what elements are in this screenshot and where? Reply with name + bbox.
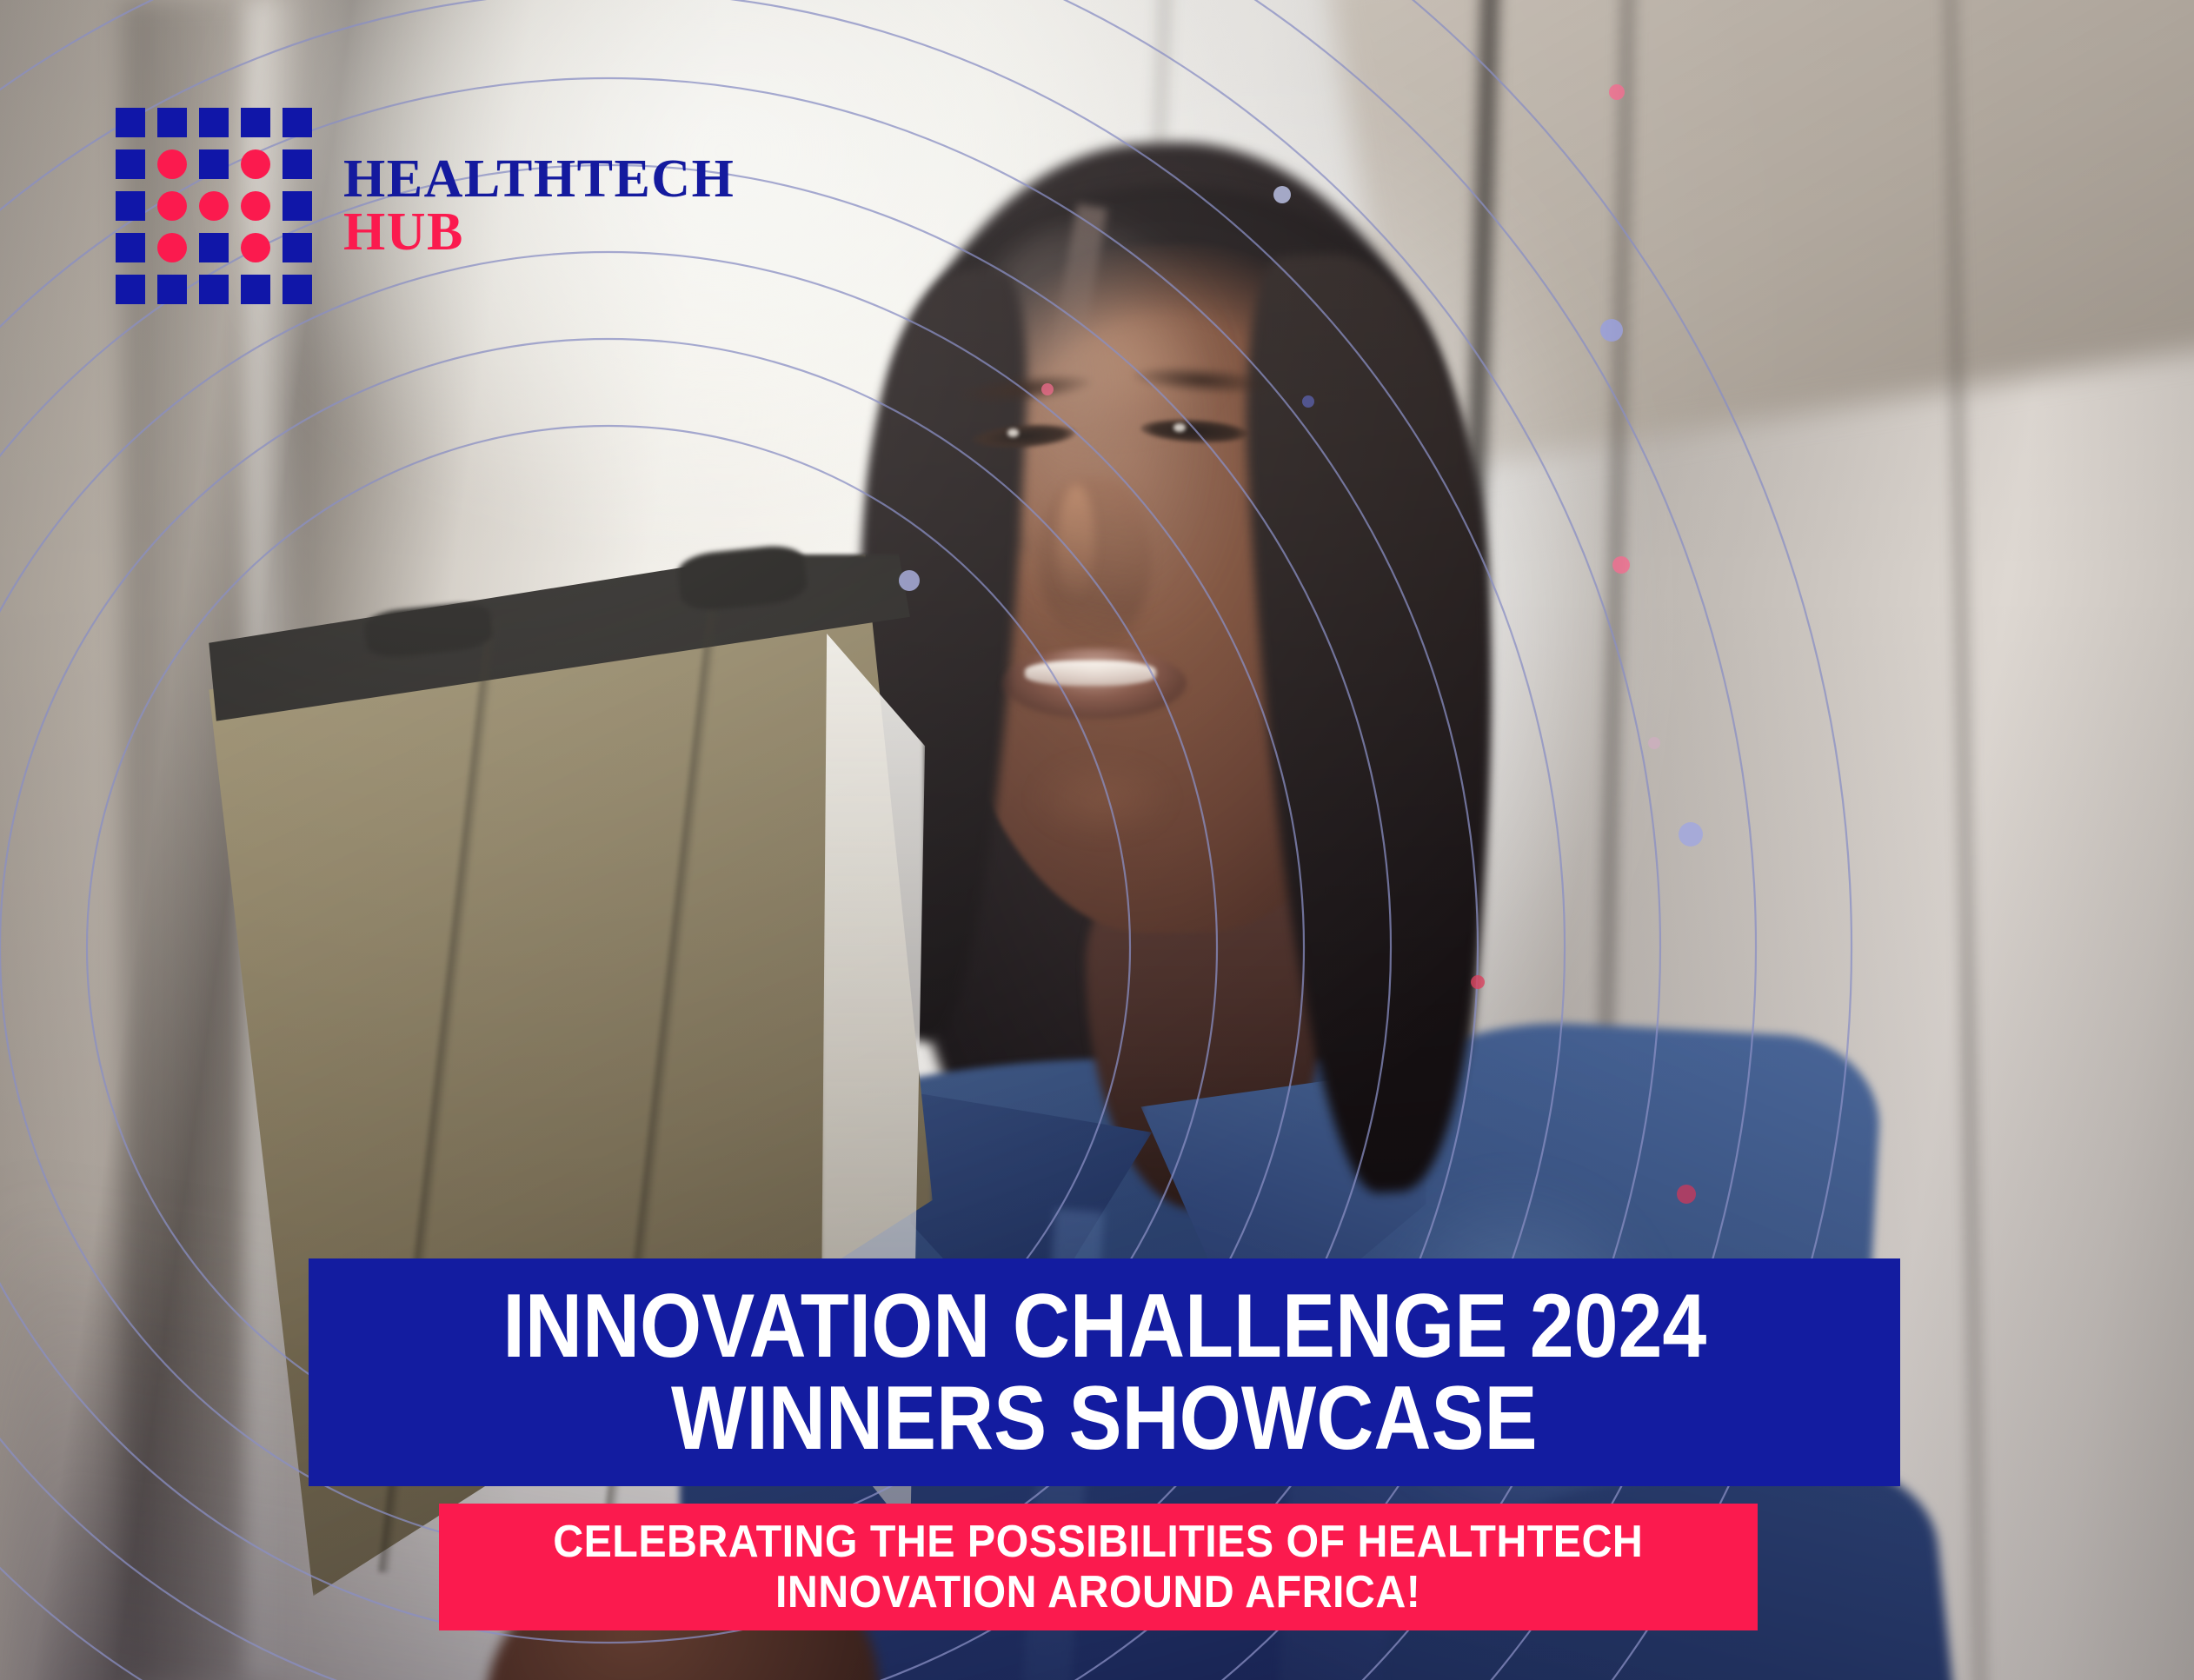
logo-cell-r1c2: [157, 108, 187, 137]
logo-cell-r3c1: [116, 191, 145, 221]
logo-cell-r1c4: [241, 108, 270, 137]
healthtech-hub-grid-mark-icon: [116, 108, 312, 304]
logo-cell-r4c4: [241, 233, 270, 262]
headline-line-1: INNOVATION CHALLENGE 2024: [502, 1280, 1706, 1372]
logo-cell-r3c4: [241, 191, 270, 221]
logo-cell-r1c1: [116, 108, 145, 137]
poster-canvas: HEALTHTECH HUB INNOVATION CHALLENGE 2024…: [0, 0, 2194, 1680]
brand-wordmark: HEALTHTECH HUB: [343, 155, 735, 257]
logo-cell-r2c4: [241, 149, 270, 179]
logo-cell-r3c2: [157, 191, 187, 221]
logo-cell-r2c3: [199, 149, 229, 179]
teeth: [1025, 661, 1156, 686]
logo-cell-r2c1: [116, 149, 145, 179]
logo-cell-r3c3: [199, 191, 229, 221]
brand-wordmark-line2: HUB: [343, 208, 735, 257]
logo-cell-r1c3: [199, 108, 229, 137]
headline-line-2: WINNERS SHOWCASE: [671, 1372, 1538, 1464]
logo-cell-r4c2: [157, 233, 187, 262]
eye-highlight-left: [1007, 428, 1020, 437]
logo-cell-r5c5: [283, 275, 312, 304]
brand-wordmark-line1: HEALTHTECH: [343, 155, 735, 204]
logo-cell-r2c2: [157, 149, 187, 179]
subhead-line-2: INNOVATION AROUND AFRICA!: [775, 1567, 1420, 1617]
logo-cell-r4c3: [199, 233, 229, 262]
logo-cell-r4c1: [116, 233, 145, 262]
nose: [1038, 479, 1152, 647]
logo-cell-r5c4: [241, 275, 270, 304]
chin-highlight: [1031, 756, 1173, 840]
logo-cell-r5c3: [199, 275, 229, 304]
brand-logo[interactable]: HEALTHTECH HUB: [116, 108, 735, 304]
logo-cell-r4c5: [283, 233, 312, 262]
logo-cell-r1c5: [283, 108, 312, 137]
headline-banner: INNOVATION CHALLENGE 2024 WINNERS SHOWCA…: [309, 1258, 1900, 1486]
logo-cell-r3c5: [283, 191, 312, 221]
subhead-banner: CELEBRATING THE POSSIBILITIES OF HEALTHT…: [439, 1504, 1758, 1630]
logo-cell-r2c5: [283, 149, 312, 179]
logo-cell-r5c2: [157, 275, 187, 304]
eye-highlight-right: [1173, 423, 1186, 432]
subhead-line-1: CELEBRATING THE POSSIBILITIES OF HEALTHT…: [553, 1517, 1643, 1567]
nose-highlight: [1058, 484, 1095, 601]
logo-cell-r5c1: [116, 275, 145, 304]
